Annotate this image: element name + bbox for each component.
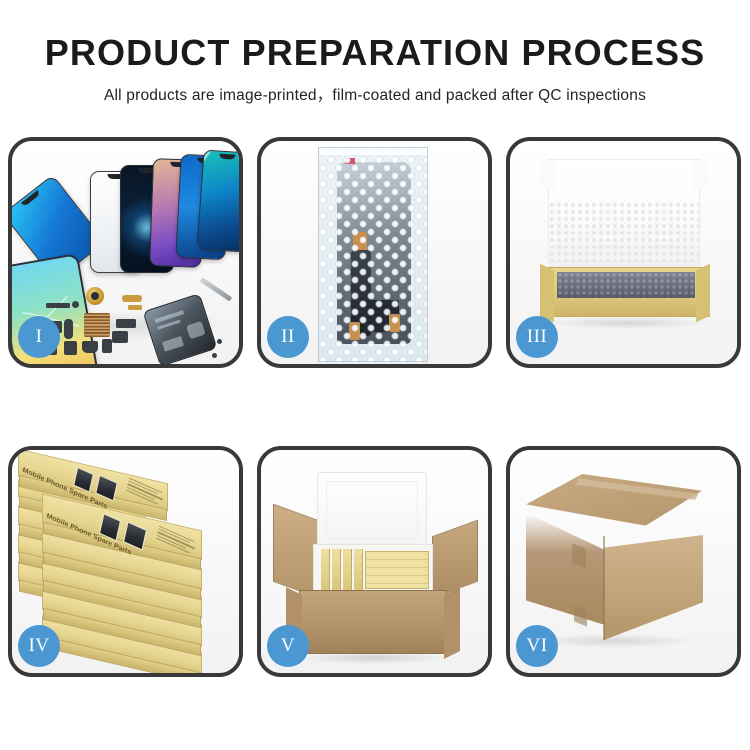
step-badge-i: I (18, 316, 60, 358)
page-subtitle: All products are image-printed，film-coat… (0, 83, 750, 105)
screw-part-1 (72, 301, 79, 308)
yellow-inner-box (540, 267, 710, 317)
carton-front-face (299, 590, 447, 654)
carton-right-face (604, 535, 703, 640)
step-panel-iv: Mobile Phone Spare Parts Mobile P (8, 446, 243, 677)
inner-boxes-flat (365, 551, 429, 589)
inner-boxes-row (319, 549, 429, 591)
carton-left-face (526, 513, 605, 625)
carton-corner-seam (603, 536, 605, 640)
sim-tray-part (102, 339, 112, 353)
step-badge-iii: III (516, 316, 558, 358)
vibrator-part (82, 341, 98, 353)
flex-cable-gold-2 (128, 305, 142, 310)
tweezers-tool (200, 277, 233, 301)
step-panel-ii: II (257, 137, 492, 368)
step-panel-iii: III (506, 137, 741, 368)
white-foam-sheet (548, 159, 700, 269)
process-steps-grid: I II (8, 137, 742, 677)
screw-part-3 (217, 339, 222, 344)
foam-lid-open (317, 472, 427, 548)
drop-shadow (544, 317, 708, 329)
connector-part-3 (112, 331, 128, 343)
step-panel-vi: VI (506, 446, 741, 677)
box-lip-left (540, 264, 554, 323)
phone-back-housing (143, 293, 218, 364)
bubble-wrap-bag (318, 147, 428, 362)
speaker-coil-part (86, 287, 104, 305)
connector-part-2 (116, 319, 136, 328)
page-title: PRODUCT PREPARATION PROCESS (0, 34, 750, 72)
carton-interior (313, 544, 433, 594)
antenna-strip-part (46, 303, 70, 308)
phone-screen-teal (197, 149, 239, 252)
step-badge-iv: IV (18, 625, 60, 667)
flex-ribbon-part (64, 319, 73, 339)
carton-flap-right (432, 520, 478, 599)
product-preparation-infographic: PRODUCT PREPARATION PROCESS All products… (0, 0, 750, 750)
step-panel-v: V (257, 446, 492, 677)
flex-cable-gold (122, 295, 142, 302)
box-lip-right (696, 264, 710, 323)
step-badge-vi: VI (516, 625, 558, 667)
header: PRODUCT PREPARATION PROCESS All products… (0, 0, 750, 105)
foam-texture (549, 202, 699, 268)
camera-module-part (64, 341, 77, 355)
bubble-texture (319, 148, 427, 361)
step-panel-i: I (8, 137, 243, 368)
step-badge-ii: II (267, 316, 309, 358)
step-badge-v: V (267, 625, 309, 667)
screw-part-4 (212, 353, 217, 358)
ic-chip-part (84, 313, 110, 337)
box-contents-bubble (557, 272, 695, 298)
bag-seal-edge (319, 148, 427, 155)
